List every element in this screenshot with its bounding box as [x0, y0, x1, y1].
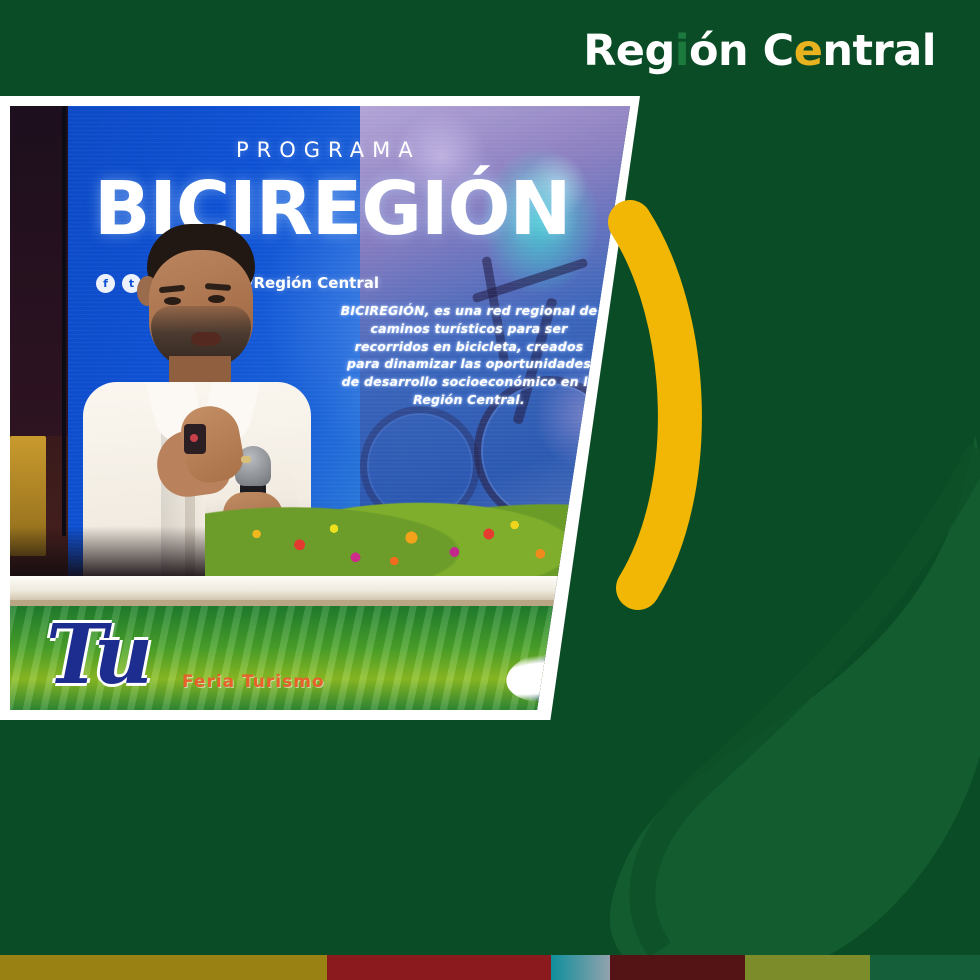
- brand-text-2: ón C: [689, 26, 794, 76]
- banner-logo: Tu: [46, 614, 147, 696]
- strip-segment-dark-green: [870, 955, 980, 980]
- speaker-eye: [164, 297, 181, 305]
- strip-segment-olive: [745, 955, 870, 980]
- strip-segment-dark-maroon: [610, 955, 745, 980]
- strip-segment-gold: [0, 955, 327, 980]
- lapel-mic-led: [190, 434, 198, 442]
- brand-accent-e: e: [794, 26, 823, 76]
- speaker-mouth: [191, 332, 221, 346]
- brand-logo: Región Central: [583, 30, 936, 73]
- event-photo: PROGRAMA BICIREGIÓN f t @ ▶ /Región Cent…: [10, 106, 630, 710]
- yellow-arc-decoration: [600, 200, 710, 610]
- table-top: [10, 576, 630, 602]
- banner-caption: Feria Turismo: [182, 672, 325, 692]
- strip-segment-crimson: [327, 955, 551, 980]
- fair-banner: Tu Feria Turismo: [10, 606, 630, 710]
- slide-kicker: PROGRAMA: [236, 138, 421, 162]
- flower-arrangement: [205, 498, 630, 588]
- leaf-watermark-icon: [600, 430, 980, 980]
- brand-text-3: ntral: [822, 26, 936, 76]
- promo-card-canvas: Región Central PROGRAMA BIC: [0, 0, 980, 980]
- brand-text-1: Reg: [583, 26, 675, 76]
- brand-accent-i: i: [675, 26, 689, 76]
- photo-frame: PROGRAMA BICIREGIÓN f t @ ▶ /Región Cent…: [0, 96, 640, 720]
- strip-segment-teal-gray: [551, 955, 610, 980]
- slide-paragraph: BICIREGIÓN, es una red regional de camin…: [340, 302, 598, 409]
- finger-ring: [241, 456, 251, 463]
- bottom-color-strip: [0, 955, 980, 980]
- corner-fold: [918, 925, 980, 955]
- speaker-eye: [208, 295, 225, 303]
